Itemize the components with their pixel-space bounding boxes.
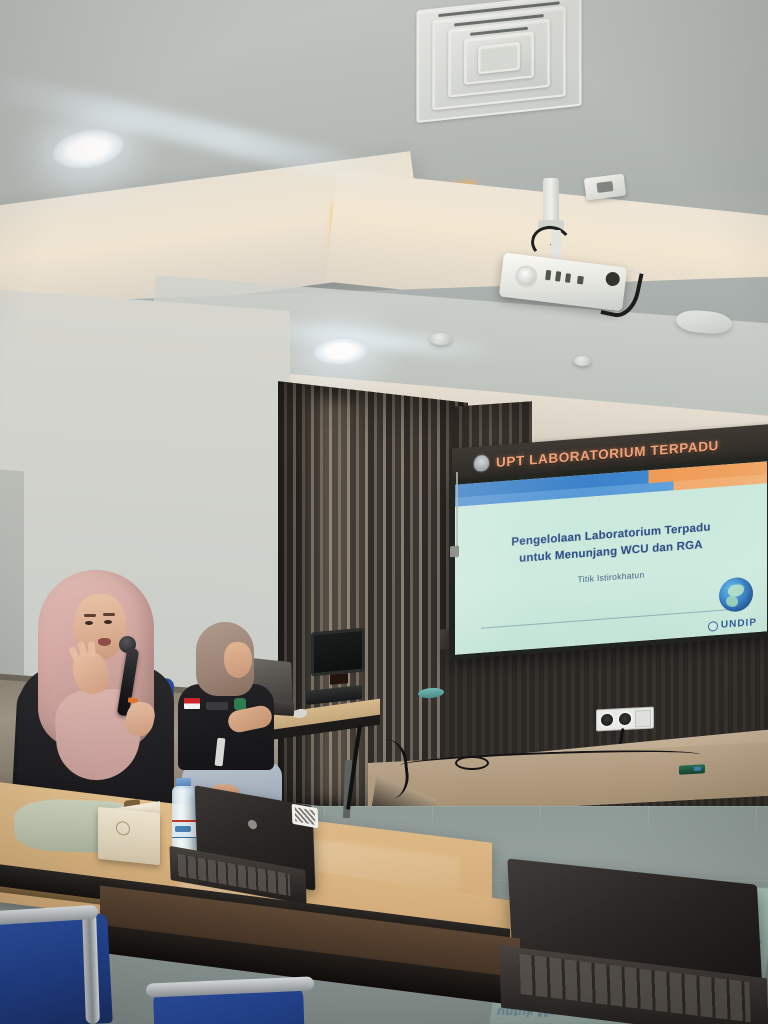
undip-seal-icon [708,620,718,631]
undip-label: UNDIP [721,617,757,631]
bottle-label [172,820,196,838]
projection-screen: Pengelolaan Laboratorium Terpadu untuk M… [449,456,768,660]
slide-body: Pengelolaan Laboratorium Terpadu untuk M… [455,483,767,654]
socket-blank-plate [635,709,651,727]
socket-outlet-icon [599,712,615,729]
monitor-stand [330,673,348,685]
slide-divider [481,608,741,629]
stage-cable-loop [455,756,489,770]
projector-lens-icon [514,264,539,289]
projector-mount-pole [543,178,559,226]
snack-box [98,807,160,866]
green-device [679,764,705,774]
desk-monitor [311,628,365,677]
presenter-mouth [98,638,111,646]
smoke-detector-icon [430,333,452,345]
power-socket-icon [584,174,626,201]
slide-institution-logo: UNDIP [708,617,757,632]
smoke-detector-icon [574,356,591,366]
room-photo: UPT LABORATORIUM TERPADU Pengelolaan Lab… [0,0,768,1024]
ceiling-projector [495,178,635,313]
institution-emblem-icon [474,455,489,472]
ac-diffuser-icon [416,0,581,123]
snack-box-logo-icon [116,821,130,836]
operator-face [224,642,252,678]
globe-icon [719,576,753,613]
socket-outlet-icon [617,711,633,728]
projection-screen-surface: Pengelolaan Laboratorium Terpadu untuk M… [455,461,767,654]
screen-pull-tab[interactable] [450,546,459,558]
indonesia-flag-patch-icon [184,698,200,709]
wall-socket-plate[interactable] [596,706,654,731]
jacket-name-patch [206,702,228,710]
